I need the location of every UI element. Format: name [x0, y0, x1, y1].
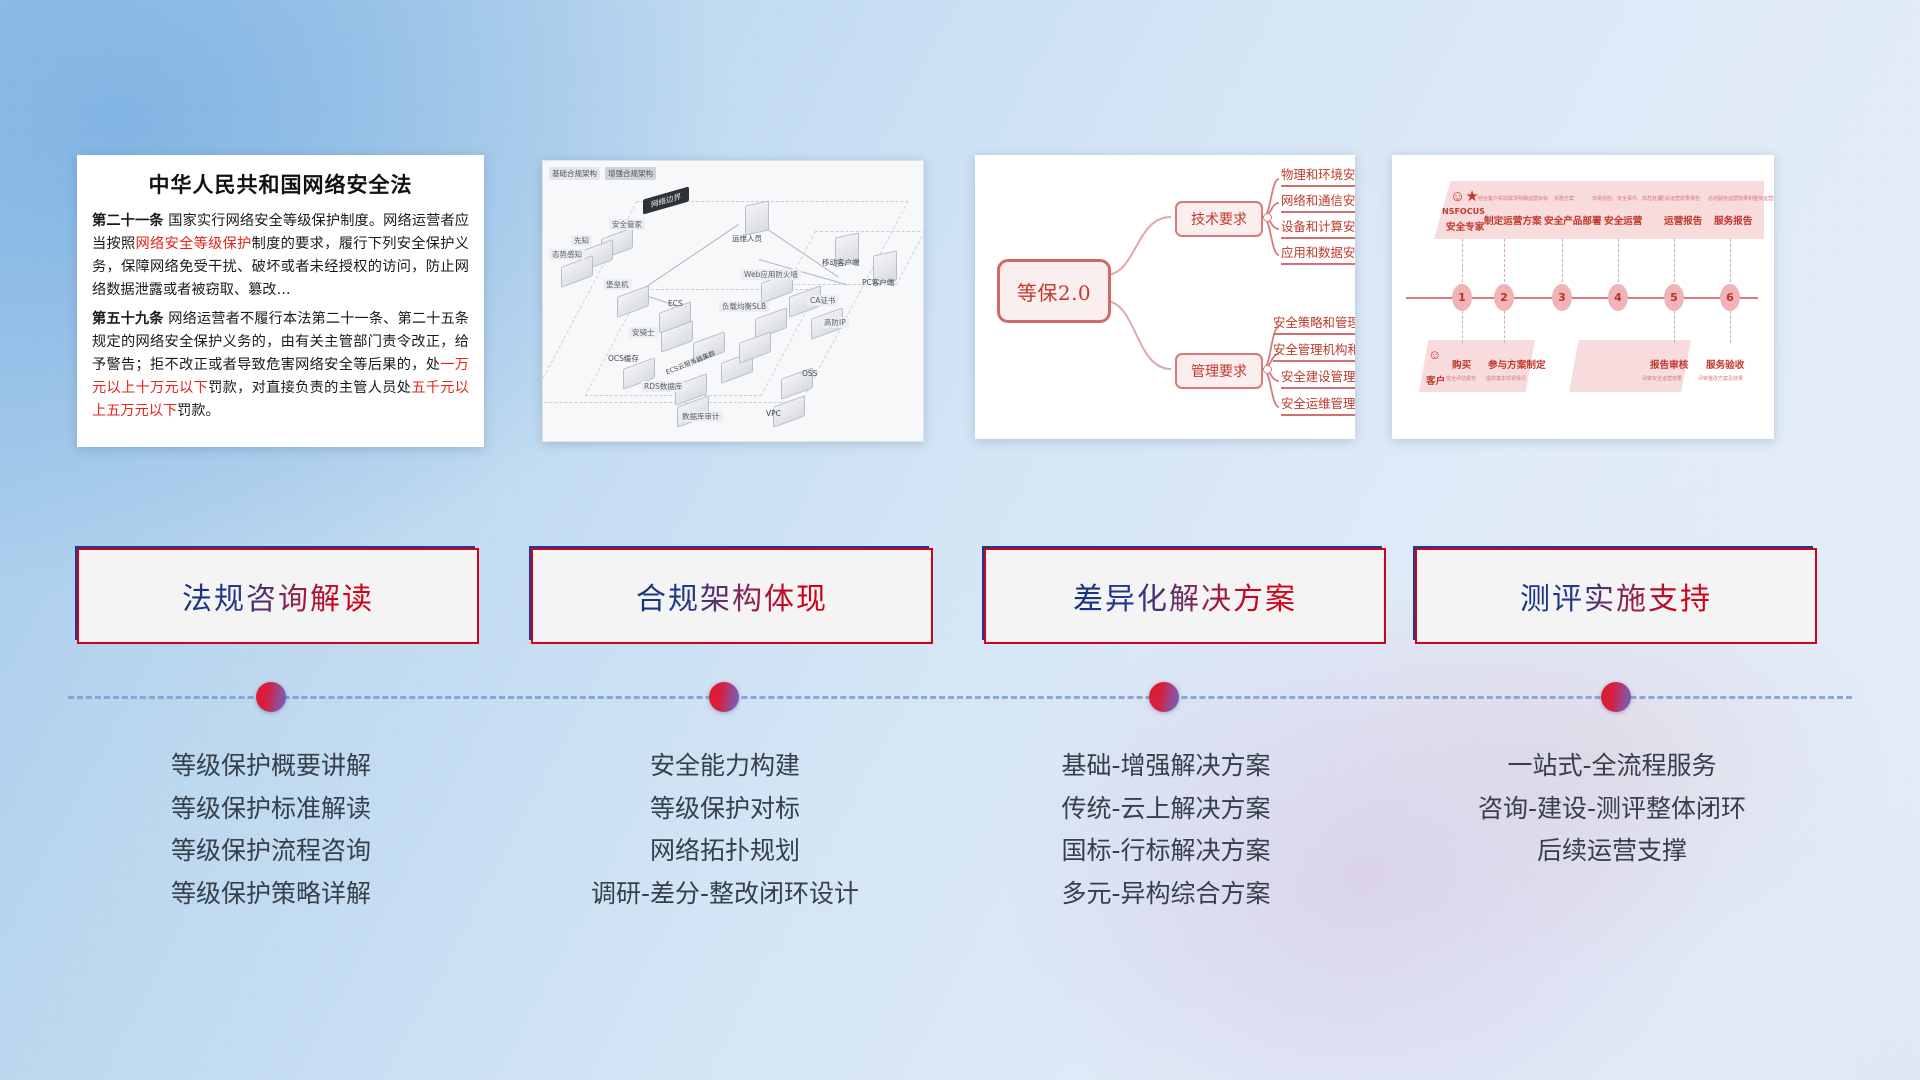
nsfocus-top-title-0: 制定运营方案	[1484, 213, 1542, 227]
nsfocus-top-sub-3: 阶段运营效果报告	[1660, 195, 1700, 202]
net-label-1: 先知	[571, 235, 592, 246]
net-label-8: 数据库审计	[679, 411, 723, 422]
timeline-dashed-line	[68, 696, 1852, 699]
nsfocus-bot-title-3: 服务验收	[1706, 357, 1744, 371]
section-items-2: 安全能力构建 等级保护对标 网络拓扑规划 调研-差分-整改闭环设计	[525, 745, 925, 915]
timeline-dot-2[interactable]	[709, 682, 739, 712]
list-item: 后续运营支撑	[1412, 830, 1812, 873]
customer-person-icon: ☺	[1428, 347, 1441, 362]
list-item: 多元-异构综合方案	[966, 873, 1366, 916]
nsfocus-node-4: 4	[1608, 284, 1628, 311]
net-tab-enhanced: 增强合规架构	[605, 167, 656, 180]
net-label-10: Web应用防火墙	[741, 269, 801, 280]
nsfocus-top-title-4: 服务报告	[1714, 213, 1752, 227]
net-node-ecs-cluster-c	[739, 337, 771, 358]
section-items-1: 等级保护概要讲解 等级保护标准解读 等级保护流程咨询 等级保护策略详解	[71, 745, 471, 915]
net-label-0: 安全管家	[609, 219, 645, 230]
nsfocus-stem-b1	[1462, 311, 1464, 343]
list-item: 国标-行标解决方案	[966, 830, 1366, 873]
section-title-3: 差异化解决方案	[1073, 574, 1297, 618]
mindmap-leaf-m2: 安全建设管理	[1281, 367, 1355, 389]
card-network-architecture: 基础合规架构 增强合规架构 网络边界 安全管家 先知 态势感知 堡垒机 安骑	[542, 160, 924, 442]
list-item: 一站式-全流程服务	[1412, 745, 1812, 788]
nsfocus-bot-title-1: 参与方案制定	[1488, 357, 1546, 371]
nsfocus-top-title-3: 运营报告	[1664, 213, 1702, 227]
law-title: 中华人民共和国网络安全法	[92, 169, 469, 199]
article-21-highlight: 网络安全等级保护	[136, 236, 252, 252]
mindmap-branch-technical: 技术要求	[1175, 201, 1263, 237]
mindmap-root: 等保2.0	[997, 259, 1111, 323]
nsfocus-stem-b5	[1674, 311, 1676, 343]
nsfocus-top-title-2: 安全运营	[1604, 213, 1642, 227]
mindmap-leaf-m0: 安全策略和管理制度	[1273, 313, 1355, 335]
nsfocus-stem-b2	[1504, 311, 1506, 343]
mindmap-leaf-t3: 应用和数据安全	[1281, 243, 1355, 265]
nsfocus-stem-2	[1504, 239, 1506, 287]
card-cybersecurity-law: 中华人民共和国网络安全法 第二十一条 国家实行网络安全等级保护制度。网络运营者应…	[77, 155, 484, 447]
card-mindmap-dengbao: 等保2.0 技术要求 物理和环境安全 网络和通信安全 设备和计算安全 应用和数据…	[975, 155, 1355, 439]
net-label-2: 态势感知	[549, 249, 585, 260]
section-items-4: 一站式-全流程服务 咨询-建设-测评整体闭环 后续运营支撑	[1412, 745, 1812, 873]
nsfocus-bot-title-2: 报告审核	[1650, 357, 1688, 371]
net-label-15: 运维人员	[729, 233, 765, 244]
card-nsfocus-timeline: ☺★ NSFOCUS 安全专家 结合客户实际需求明确运营目标 制定运营方案 实施…	[1392, 155, 1774, 439]
list-item: 等级保护标准解读	[71, 788, 471, 831]
nsfocus-brand: NSFOCUS	[1442, 207, 1485, 216]
list-item: 网络拓扑规划	[525, 830, 925, 873]
nsfocus-stem-6	[1730, 239, 1732, 287]
net-label-7: RDS数据库	[641, 381, 685, 392]
section-title-4: 测评实施支持	[1520, 574, 1712, 618]
nsfocus-bot-title-0: 购买	[1452, 357, 1471, 371]
nsfocus-top-title-1: 安全产品部署	[1544, 213, 1602, 227]
nsfocus-stem-1	[1462, 239, 1464, 287]
section-title-2: 合规架构体现	[636, 574, 828, 618]
section-title-1: 法规咨询解读	[182, 574, 374, 618]
mindmap-dot-management	[1263, 365, 1272, 374]
article-59-label: 第五十九条	[92, 311, 164, 327]
section-title-box-3[interactable]: 差异化解决方案	[984, 548, 1386, 644]
list-item: 安全能力构建	[525, 745, 925, 788]
list-item: 咨询-建设-测评整体闭环	[1412, 788, 1812, 831]
nsfocus-customer-role: 客户	[1426, 373, 1445, 387]
net-label-12: 高防IP	[821, 317, 849, 328]
law-article-59: 第五十九条 网络运营者不履行本法第二十一条、第二十五条规定的网络安全保护义务的，…	[92, 308, 469, 423]
nsfocus-node-5: 5	[1664, 284, 1684, 311]
net-node-slb	[755, 313, 787, 334]
nsfocus-bot-sub-0: 安全评估报告	[1446, 375, 1476, 382]
net-label-13: OSS	[799, 369, 820, 378]
nsfocus-top-sub-2: 日常巡检、安全事件、高危处置	[1592, 195, 1662, 202]
list-item: 等级保护流程咨询	[71, 830, 471, 873]
list-item: 等级保护策略详解	[71, 873, 471, 916]
list-item: 调研-差分-整改闭环设计	[525, 873, 925, 916]
mindmap-leaf-m3: 安全运维管理	[1281, 394, 1355, 416]
section-title-box-2[interactable]: 合规架构体现	[531, 548, 933, 644]
net-label-5: ECS	[665, 299, 686, 308]
article-59-text-2: 罚款，对直接负责的主管人员处	[208, 380, 411, 396]
net-label-16: 移动客户端	[819, 257, 863, 268]
net-node-bastion	[617, 291, 649, 312]
network-diagram: 基础合规架构 增强合规架构 网络边界 安全管家 先知 态势感知 堡垒机 安骑	[543, 161, 923, 441]
net-label-3: 堡垒机	[603, 279, 632, 290]
list-item: 传统-云上解决方案	[966, 788, 1366, 831]
net-label-11: CA证书	[807, 295, 838, 306]
mindmap-leaf-t0: 物理和环境安全	[1281, 165, 1355, 187]
net-tab-basic: 基础合规架构	[549, 167, 600, 180]
mindmap: 等保2.0 技术要求 物理和环境安全 网络和通信安全 设备和计算安全 应用和数据…	[975, 155, 1355, 439]
mindmap-leaf-t1: 网络和通信安全	[1281, 191, 1355, 213]
article-59-text-3: 罚款。	[177, 403, 220, 419]
net-node-ecs	[659, 307, 691, 328]
nsfocus-top-sub-0: 结合客户实际需求明确运营目标	[1478, 195, 1548, 202]
nsfocus-stem-b6	[1730, 311, 1732, 343]
nsfocus-stem-3	[1562, 239, 1564, 287]
nsfocus-top-sub-1: 实施方案	[1554, 195, 1574, 202]
net-label-4: 安骑士	[629, 327, 658, 338]
article-21-label: 第二十一条	[92, 213, 164, 229]
nsfocus-bot-sub-2: 评审安全运营效果	[1642, 375, 1682, 382]
net-label-17: PC客户端	[859, 277, 897, 288]
mindmap-leaf-t2: 设备和计算安全	[1281, 217, 1355, 239]
nsfocus-stem-5	[1674, 239, 1676, 287]
net-node-ops-user	[745, 203, 769, 233]
list-item: 等级保护对标	[525, 788, 925, 831]
nsfocus-top-sub-4: 总结服务运营效果和整体运营效果	[1708, 195, 1774, 202]
nsfocus-node-2: 2	[1494, 284, 1514, 311]
net-label-6: OCS缓存	[605, 353, 642, 364]
timeline-dot-1[interactable]	[256, 682, 286, 712]
list-item: 等级保护概要讲解	[71, 745, 471, 788]
nsfocus-stem-4	[1618, 239, 1620, 287]
expert-person-icon: ☺★	[1450, 187, 1479, 205]
nsfocus-node-3: 3	[1552, 284, 1572, 311]
nsfocus-expert-role: 安全专家	[1446, 219, 1484, 233]
section-items-3: 基础-增强解决方案 传统-云上解决方案 国标-行标解决方案 多元-异构综合方案	[966, 745, 1366, 915]
mindmap-dot-technical	[1263, 213, 1272, 222]
timeline-dot-4[interactable]	[1601, 682, 1631, 712]
nsfocus-process: ☺★ NSFOCUS 安全专家 结合客户实际需求明确运营目标 制定运营方案 实施…	[1392, 155, 1774, 439]
section-title-box-1[interactable]: 法规咨询解读	[77, 548, 479, 644]
mindmap-leaf-m1: 安全管理机构和人员	[1273, 340, 1355, 362]
nsfocus-bot-sub-3: 评审整改方案及效果	[1698, 375, 1743, 382]
nsfocus-node-1: 1	[1452, 284, 1472, 311]
net-node-situational	[561, 261, 593, 282]
mindmap-branch-management: 管理要求	[1175, 353, 1263, 389]
list-item: 基础-增强解决方案	[966, 745, 1366, 788]
timeline-dot-3[interactable]	[1149, 682, 1179, 712]
nsfocus-bot-sub-1: 提供基本现状情况	[1486, 375, 1526, 382]
nsfocus-node-6: 6	[1720, 284, 1740, 311]
net-label-14: VPC	[763, 409, 784, 418]
law-article-21: 第二十一条 国家实行网络安全等级保护制度。网络运营者应当按照网络安全等级保护制度…	[92, 210, 469, 302]
section-title-box-4[interactable]: 测评实施支持	[1415, 548, 1817, 644]
